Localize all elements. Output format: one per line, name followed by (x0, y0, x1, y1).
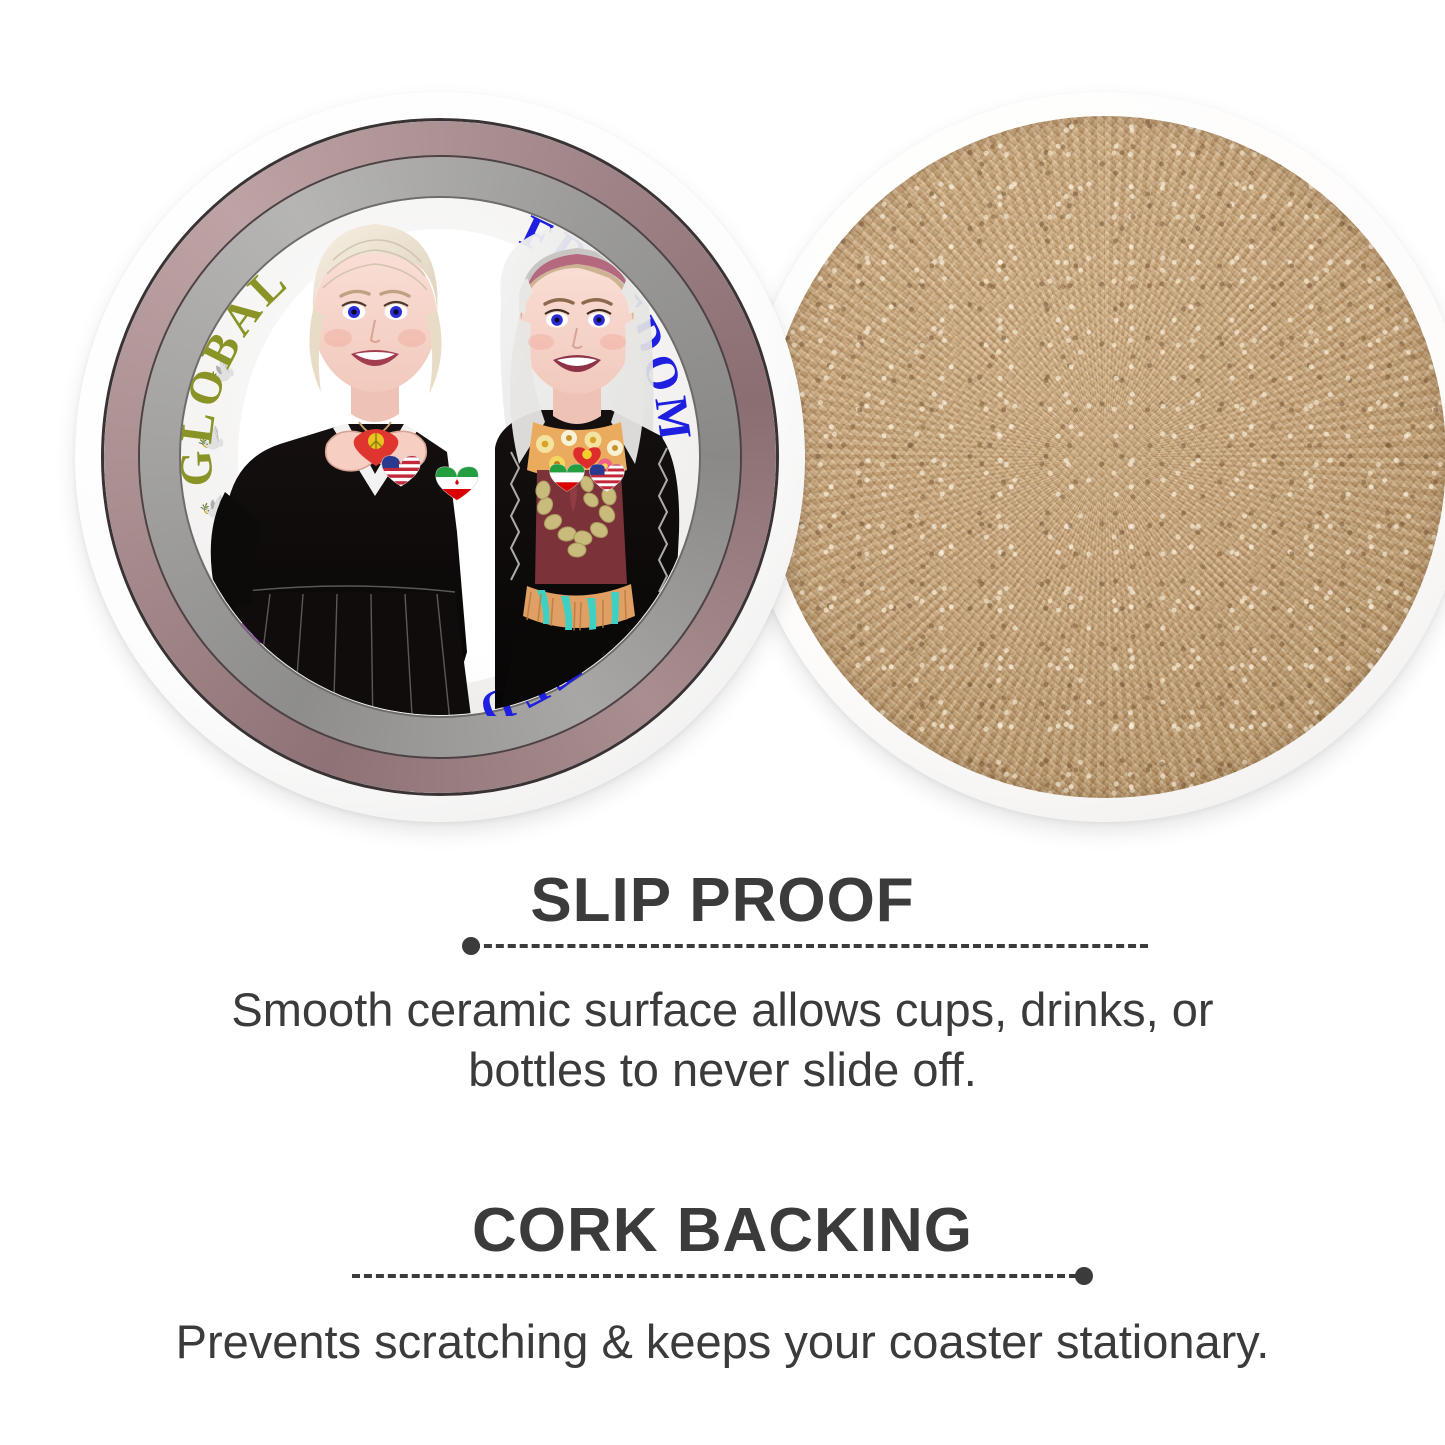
coaster-front-face[interactable]: 🕊️ 🕊️ 🕊️ ❤️ ☮️ 🕊️ ❤️ 🕊️ 🕊️ GLOBAL (75, 92, 805, 822)
divider-dashed-line (352, 1274, 1077, 1278)
feature-slip-proof: SLIP PROOF Smooth ceramic surface allows… (0, 870, 1445, 1100)
coaster-illustration (75, 92, 805, 822)
product-image-area: 🕊️ 🕊️ 🕊️ ❤️ ☮️ 🕊️ ❤️ 🕊️ 🕊️ GLOBAL (0, 0, 1445, 860)
feature-divider (0, 932, 1445, 958)
feature-description: Smooth ceramic surface allows cups, drin… (158, 980, 1288, 1100)
feature-description: Prevents scratching & keeps your coaster… (158, 1312, 1288, 1372)
coaster-cork-backing[interactable] (740, 92, 1445, 822)
divider-dashed-line (472, 944, 1148, 948)
divider-dot-icon (1075, 1267, 1093, 1285)
feature-title: CORK BACKING (0, 1200, 1445, 1262)
cork-texture-surface (764, 116, 1445, 798)
feature-list: SLIP PROOF Smooth ceramic surface allows… (0, 860, 1445, 1372)
feature-divider (0, 1262, 1445, 1288)
feature-cork-backing: CORK BACKING Prevents scratching & keeps… (0, 1200, 1445, 1372)
feature-title: SLIP PROOF (0, 870, 1445, 932)
